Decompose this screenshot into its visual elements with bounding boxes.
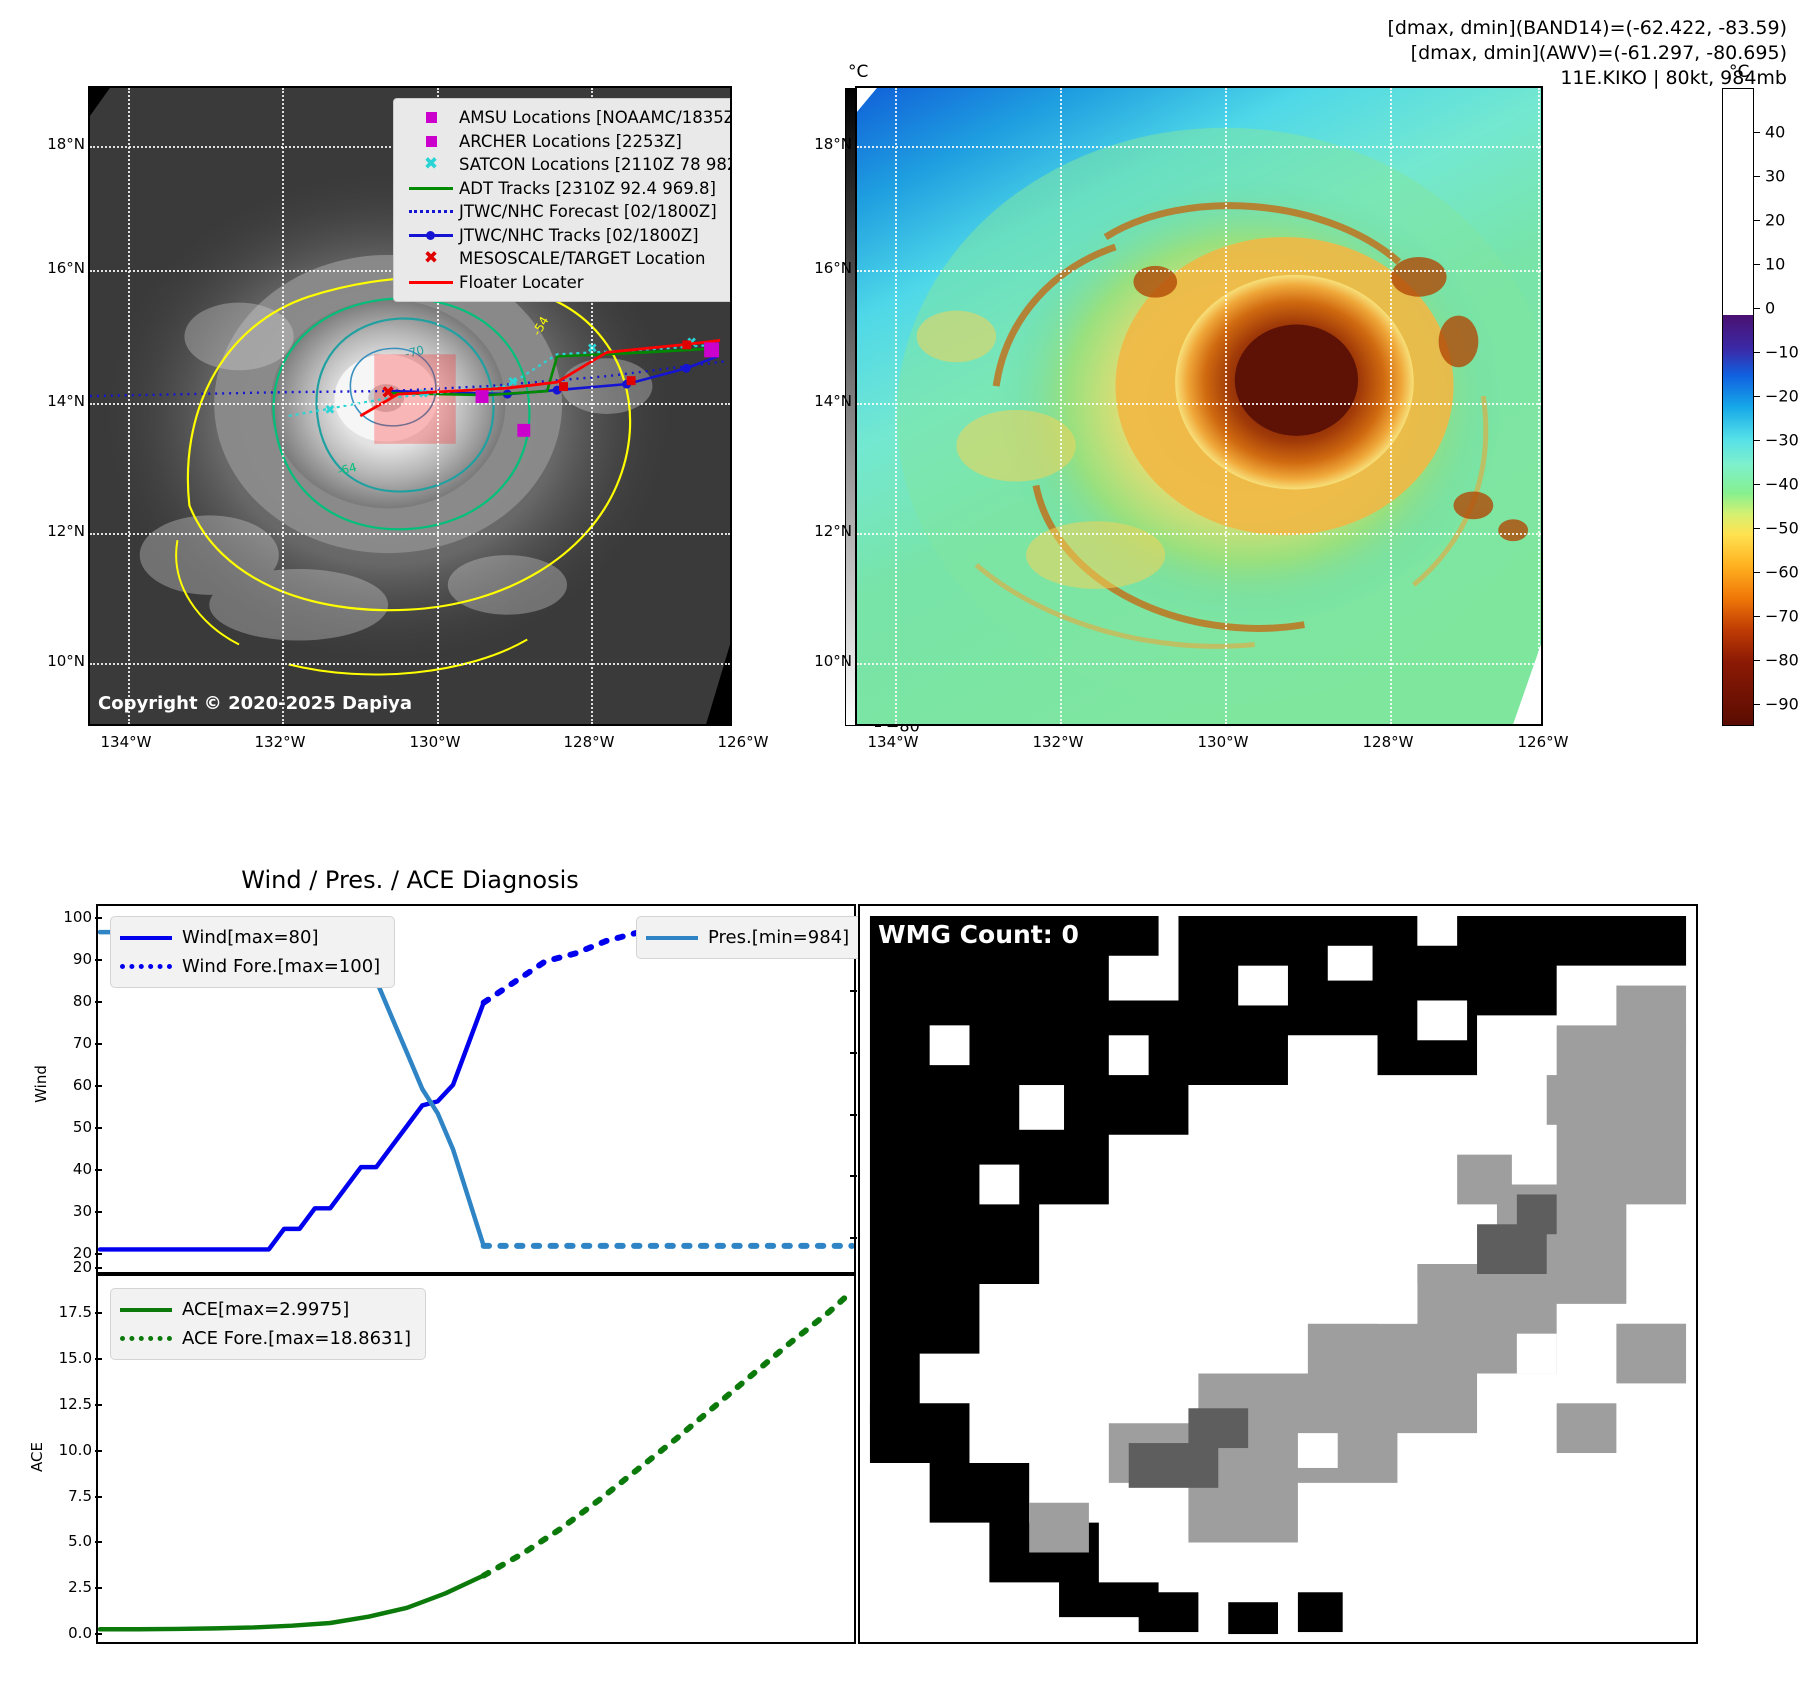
axis-tickmark bbox=[95, 1001, 102, 1003]
svg-text:✖: ✖ bbox=[325, 403, 336, 418]
colorbar-tick-label: 30 bbox=[1765, 167, 1785, 186]
ir-lon-tick: 134°W bbox=[101, 733, 152, 751]
axis-tickmark bbox=[850, 1052, 857, 1054]
legend-label: ARCHER Locations [2253Z] bbox=[459, 132, 682, 151]
legend-label: Wind Fore.[max=100] bbox=[182, 956, 380, 977]
colorbar-tickmark bbox=[1754, 132, 1760, 133]
ir-lon-tick: 126°W bbox=[718, 733, 769, 751]
colorbar-tick-label: −30 bbox=[1765, 431, 1799, 450]
header-statistics: [dmax, dmin](BAND14)=(-62.422, -83.59) [… bbox=[1387, 16, 1787, 91]
dotted-line-icon bbox=[120, 964, 182, 969]
axis-tickmark bbox=[95, 1169, 102, 1171]
legend-label: Pres.[min=984] bbox=[708, 927, 849, 948]
axis-tick-label: 50 bbox=[50, 1118, 92, 1136]
legend-label: ACE Fore.[max=18.8631] bbox=[182, 1328, 411, 1349]
square-icon bbox=[403, 136, 459, 147]
legend-item-jtwc-forecast[interactable]: JTWC/NHC Forecast [02/1800Z] bbox=[403, 200, 732, 224]
ir-lon-tick: 130°W bbox=[410, 733, 461, 751]
colorbar-tickmark bbox=[1754, 704, 1760, 705]
axis-tick-label: 40 bbox=[50, 1160, 92, 1178]
axis-tickmark bbox=[95, 1127, 102, 1129]
legend-item-ace-forecast[interactable]: ACE Fore.[max=18.8631] bbox=[120, 1324, 411, 1353]
wv-lon-tick: 132°W bbox=[1033, 733, 1084, 751]
legend-label: AMSU Locations [NOAAMC/1835Z 62 990] bbox=[459, 108, 732, 127]
dotted-line-icon bbox=[403, 210, 459, 213]
wv-colorbar[interactable] bbox=[1722, 88, 1754, 726]
axis-tickmark bbox=[95, 1043, 102, 1045]
axis-tickmark bbox=[850, 1175, 857, 1177]
axis-tickmark bbox=[95, 959, 102, 961]
colorbar-tickmark bbox=[1754, 352, 1760, 353]
legend-label: ACE[max=2.9975] bbox=[182, 1299, 349, 1320]
ir-lat-tick: 16°N bbox=[45, 259, 85, 277]
axis-tickmark bbox=[850, 1114, 857, 1116]
axis-tick-label: 5.0 bbox=[50, 1532, 92, 1550]
legend-label: SATCON Locations [2110Z 78 982] bbox=[459, 155, 732, 174]
wv-lat-tick: 12°N bbox=[810, 522, 852, 540]
colorbar-tickmark bbox=[1754, 220, 1760, 221]
colorbar-tick-label: 40 bbox=[1765, 123, 1785, 142]
axis-tick-label: 17.5 bbox=[50, 1303, 92, 1321]
colorbar-tick-label: 0 bbox=[1765, 299, 1775, 318]
axis-tickmark bbox=[95, 917, 102, 919]
axis-tickmark bbox=[850, 1237, 857, 1239]
ir-colorbar-unit: °C bbox=[848, 62, 868, 82]
square-icon bbox=[403, 112, 459, 123]
legend-item-satcon[interactable]: ✖ SATCON Locations [2110Z 78 982] bbox=[403, 153, 732, 177]
wmg-count-panel[interactable]: WMG Count: 0 bbox=[858, 904, 1698, 1644]
legend-label: MESOSCALE/TARGET Location bbox=[459, 249, 705, 268]
dotted-line-icon bbox=[120, 1336, 182, 1341]
line-icon bbox=[403, 187, 459, 190]
legend-item-ace[interactable]: ACE[max=2.9975] bbox=[120, 1295, 411, 1324]
axis-tickmark bbox=[95, 1496, 102, 1498]
colorbar-tickmark bbox=[1754, 660, 1760, 661]
svg-text:✖: ✖ bbox=[587, 341, 598, 356]
wind-legend[interactable]: Wind[max=80] Wind Fore.[max=100] bbox=[110, 916, 395, 988]
wmg-count-label: WMG Count: 0 bbox=[878, 920, 1079, 949]
colorbar-tickmark bbox=[875, 726, 881, 727]
axis-tickmark bbox=[95, 1541, 102, 1543]
colorbar-tick-label: 20 bbox=[1765, 211, 1785, 230]
wv-lat-tick: 10°N bbox=[810, 652, 852, 670]
axis-tick-label: 7.5 bbox=[50, 1487, 92, 1505]
wv-lon-tick: 134°W bbox=[868, 733, 919, 751]
colorbar-tickmark bbox=[1754, 396, 1760, 397]
wv-lat-tick: 14°N bbox=[810, 392, 852, 410]
colorbar-tick-label: −60 bbox=[1765, 563, 1799, 582]
wmg-mask-image bbox=[860, 906, 1696, 1642]
colorbar-tickmark bbox=[1754, 484, 1760, 485]
axis-tick-label: 70 bbox=[50, 1034, 92, 1052]
wv-colorbar-unit: °C bbox=[1729, 62, 1749, 82]
line-icon bbox=[120, 936, 182, 940]
colorbar-tick-label: −70 bbox=[1765, 607, 1799, 626]
ir-lat-tick: 18°N bbox=[45, 135, 85, 153]
ace-legend[interactable]: ACE[max=2.9975] ACE Fore.[max=18.8631] bbox=[110, 1288, 426, 1360]
legend-item-mesoscale-target[interactable]: ✖ MESOSCALE/TARGET Location bbox=[403, 247, 732, 271]
axis-tickmark bbox=[95, 1404, 102, 1406]
legend-item-archer[interactable]: ARCHER Locations [2253Z] bbox=[403, 130, 732, 154]
legend-item-pressure[interactable]: Pres.[min=984] bbox=[646, 923, 849, 952]
colorbar-tick-label: −90 bbox=[1765, 695, 1799, 714]
axis-tickmark bbox=[95, 1211, 102, 1213]
axis-tick-label: 20 bbox=[50, 1258, 92, 1276]
cross-icon: ✖ bbox=[403, 156, 459, 173]
wv-lon-tick: 126°W bbox=[1518, 733, 1569, 751]
line-icon bbox=[646, 936, 708, 940]
axis-tick-label: 0.0 bbox=[50, 1624, 92, 1642]
colorbar-tickmark bbox=[1754, 308, 1760, 309]
wv-lat-tick: 18°N bbox=[810, 135, 852, 153]
axis-tick-label: 80 bbox=[50, 992, 92, 1010]
colorbar-tickmark bbox=[1754, 616, 1760, 617]
map-legend[interactable]: AMSU Locations [NOAAMC/1835Z 62 990] ARC… bbox=[393, 98, 732, 302]
svg-text:✖: ✖ bbox=[418, 387, 429, 402]
line-icon bbox=[120, 1308, 182, 1312]
axis-tickmark bbox=[850, 990, 857, 992]
ir-satellite-panel[interactable]: -70 -64 -54 ✖✖ ✖✖✖ bbox=[88, 86, 732, 726]
legend-item-wind[interactable]: Wind[max=80] bbox=[120, 923, 380, 952]
axis-tick-label: 12.5 bbox=[50, 1395, 92, 1413]
legend-label: Floater Locater bbox=[459, 273, 584, 292]
axis-tickmark bbox=[95, 1358, 102, 1360]
axis-tickmark bbox=[95, 1253, 102, 1255]
wv-satellite-panel[interactable] bbox=[855, 86, 1543, 726]
ir-lat-tick: 14°N bbox=[45, 392, 85, 410]
wv-satellite-image bbox=[857, 88, 1541, 724]
colorbar-tick-label: −40 bbox=[1765, 475, 1799, 494]
legend-label: ADT Tracks [2310Z 92.4 969.8] bbox=[459, 179, 716, 198]
wv-lon-tick: 128°W bbox=[1363, 733, 1414, 751]
colorbar-tickmark bbox=[1754, 176, 1760, 177]
axis-tick-label: 90 bbox=[50, 950, 92, 968]
ir-lon-tick: 128°W bbox=[564, 733, 615, 751]
axis-tick-label: 10.0 bbox=[50, 1441, 92, 1459]
colorbar-tick-label: −20 bbox=[1765, 387, 1799, 406]
legend-label: Wind[max=80] bbox=[182, 927, 319, 948]
diagnosis-title: Wind / Pres. / ACE Diagnosis bbox=[241, 866, 579, 894]
legend-item-jtwc-tracks[interactable]: JTWC/NHC Tracks [02/1800Z] bbox=[403, 224, 732, 248]
ir-lat-tick: 12°N bbox=[45, 522, 85, 540]
wind-axis-title: Wind bbox=[32, 1065, 50, 1103]
colorbar-tickmark bbox=[1754, 572, 1760, 573]
legend-item-wind-forecast[interactable]: Wind Fore.[max=100] bbox=[120, 952, 380, 981]
pressure-legend[interactable]: Pres.[min=984] bbox=[636, 916, 864, 959]
ir-lat-tick: 10°N bbox=[45, 652, 85, 670]
svg-text:✖: ✖ bbox=[381, 382, 395, 402]
ace-axis-title: ACE bbox=[28, 1442, 46, 1472]
colorbar-tickmark bbox=[1754, 528, 1760, 529]
legend-item-floater-locater[interactable]: Floater Locater bbox=[403, 271, 732, 295]
legend-label: JTWC/NHC Forecast [02/1800Z] bbox=[459, 202, 717, 221]
axis-tickmark bbox=[95, 1312, 102, 1314]
line-dot-icon bbox=[403, 231, 459, 240]
axis-tick-label: 100 bbox=[50, 908, 92, 926]
axis-tick-label: 15.0 bbox=[50, 1349, 92, 1367]
axis-tickmark bbox=[95, 1633, 102, 1635]
line-icon bbox=[403, 281, 459, 284]
copyright-notice: Copyright © 2020-2025 Dapiya bbox=[98, 693, 412, 714]
colorbar-tick-label: −50 bbox=[1765, 519, 1799, 538]
axis-tick-label: 60 bbox=[50, 1076, 92, 1094]
legend-item-amsu[interactable]: AMSU Locations [NOAAMC/1835Z 62 990] bbox=[403, 106, 732, 130]
wv-lon-tick: 130°W bbox=[1198, 733, 1249, 751]
colorbar-tick-label: 10 bbox=[1765, 255, 1785, 274]
legend-label: JTWC/NHC Tracks [02/1800Z] bbox=[459, 226, 699, 245]
colorbar-tick-label: −10 bbox=[1765, 343, 1799, 362]
axis-tickmark bbox=[95, 1587, 102, 1589]
ir-lon-tick: 132°W bbox=[255, 733, 306, 751]
colorbar-tickmark bbox=[1754, 264, 1760, 265]
axis-tickmark bbox=[95, 1085, 102, 1087]
cross-icon: ✖ bbox=[403, 250, 459, 267]
colorbar-tickmark bbox=[1754, 440, 1760, 441]
axis-tickmark bbox=[95, 1450, 102, 1452]
wv-lat-tick: 16°N bbox=[810, 259, 852, 277]
dmax-dmin-band14: [dmax, dmin](BAND14)=(-62.422, -83.59) bbox=[1387, 16, 1787, 41]
dmax-dmin-awv: [dmax, dmin](AWV)=(-61.297, -80.695) bbox=[1387, 41, 1787, 66]
legend-item-adt-tracks[interactable]: ADT Tracks [2310Z 92.4 969.8] bbox=[403, 177, 732, 201]
axis-tick-label: 2.5 bbox=[50, 1578, 92, 1596]
axis-tick-label: 30 bbox=[50, 1202, 92, 1220]
colorbar-tick-label: −80 bbox=[1765, 651, 1799, 670]
axis-tickmark bbox=[95, 1267, 102, 1269]
